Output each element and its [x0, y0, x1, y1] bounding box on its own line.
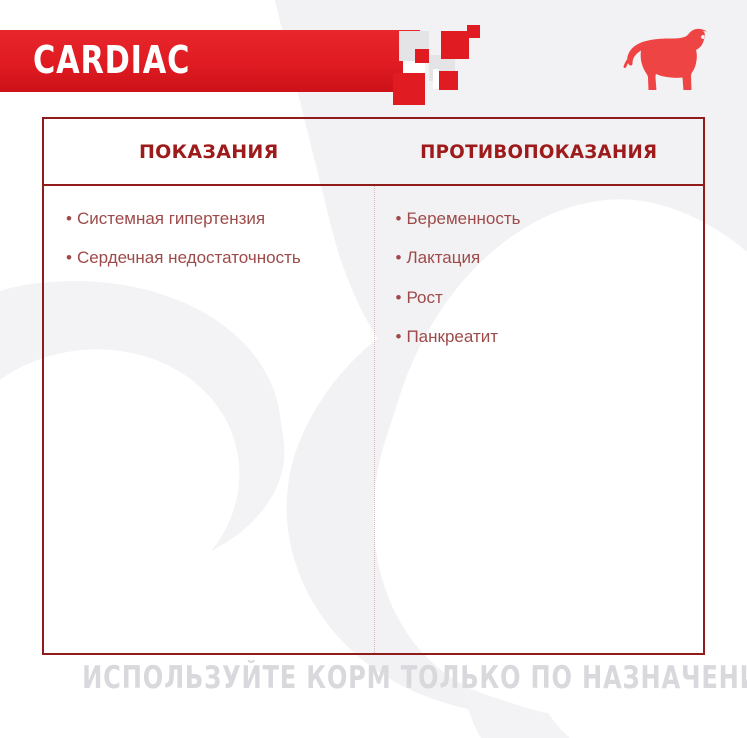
column-indications: •Системная гипертензия •Сердечная недост…: [44, 186, 374, 653]
bullet-icon: •: [66, 247, 72, 269]
brand-banner: CARDIAC: [0, 30, 420, 92]
list-item: •Панкреатит: [396, 326, 686, 348]
list-item: •Системная гипертензия: [66, 208, 356, 230]
list-item: •Сердечная недостаточность: [66, 247, 356, 269]
footer-disclaimer: ИСПОЛЬЗУЙТЕ КОРМ ТОЛЬКО ПО НАЗНАЧЕНИЮ ВР…: [82, 662, 665, 695]
list-item-label: Лактация: [406, 248, 480, 267]
bullet-icon: •: [396, 326, 402, 348]
column-header-indications: ПОКАЗАНИЯ: [44, 119, 374, 184]
pixel-square-white-2: [433, 69, 439, 89]
pixel-square-red-4: [393, 73, 425, 105]
list-item-label: Сердечная недостаточность: [77, 248, 301, 267]
indications-contraindications-table: ПОКАЗАНИЯ ПРОТИВОПОКАЗАНИЯ •Системная ги…: [42, 117, 705, 655]
list-item-label: Беременность: [406, 209, 520, 228]
decorative-pixel-squares: [395, 25, 515, 105]
list-item: •Рост: [396, 287, 686, 309]
pixel-square-red-2: [441, 31, 469, 59]
pixel-square-red-1: [415, 49, 429, 63]
list-item: •Лактация: [396, 247, 686, 269]
table-header-row: ПОКАЗАНИЯ ПРОТИВОПОКАЗАНИЯ: [44, 119, 703, 186]
column-header-contraindications: ПРОТИВОПОКАЗАНИЯ: [380, 119, 696, 184]
column-divider: [374, 186, 375, 653]
header: CARDIAC: [0, 0, 747, 110]
list-item: •Беременность: [396, 208, 686, 230]
bullet-icon: •: [396, 208, 402, 230]
column-contraindications: •Беременность •Лактация •Рост •Панкреати…: [374, 186, 704, 653]
list-item-label: Панкреатит: [406, 327, 498, 346]
table-body: •Системная гипертензия •Сердечная недост…: [44, 186, 703, 653]
brand-title: CARDIAC: [33, 41, 190, 79]
list-item-label: Системная гипертензия: [77, 209, 265, 228]
bullet-icon: •: [396, 287, 402, 309]
pixel-square-red-5: [439, 71, 458, 90]
bullet-icon: •: [396, 247, 402, 269]
bullet-icon: •: [66, 208, 72, 230]
cardiac-info-slide: CARDIAC ПОКАЗАНИЯ ПРОТИВОПОКАЗАНИЯ: [0, 0, 747, 738]
list-item-label: Рост: [406, 288, 442, 307]
dog-silhouette-icon: [609, 24, 719, 90]
pixel-square-red-3: [467, 25, 480, 38]
